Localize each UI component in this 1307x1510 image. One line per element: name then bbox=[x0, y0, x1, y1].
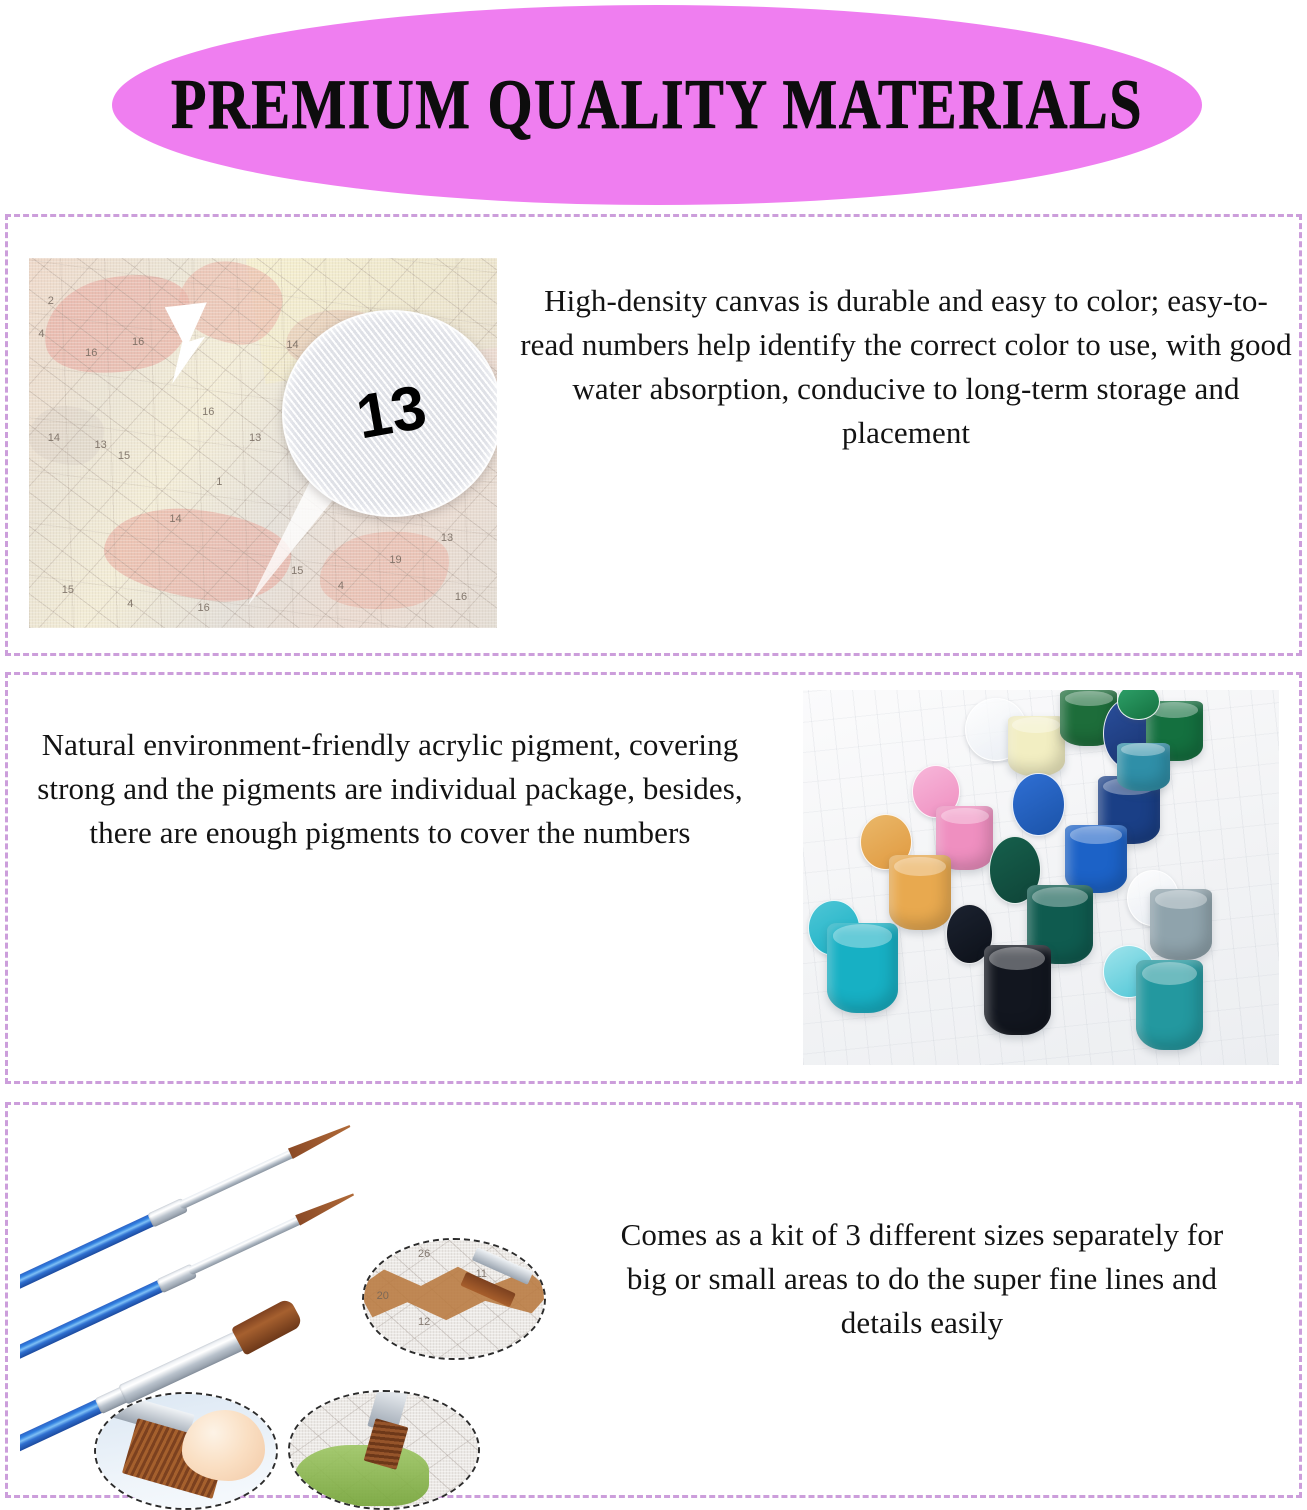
inset-bristle-closeup bbox=[94, 1392, 278, 1510]
green-paint-stroke bbox=[294, 1445, 429, 1505]
inset-number: 12 bbox=[418, 1316, 430, 1328]
inset-green-strokes bbox=[288, 1390, 480, 1510]
brush-tip bbox=[285, 1114, 356, 1165]
inset-tan-strokes: 26 11 20 12 bbox=[362, 1238, 546, 1360]
paint-pot bbox=[1150, 889, 1212, 960]
paint-pot bbox=[1136, 960, 1203, 1050]
canvas-number: 15 bbox=[291, 565, 303, 577]
canvas-number: 13 bbox=[249, 432, 261, 444]
canvas-number: 13 bbox=[95, 439, 107, 451]
canvas-number: 14 bbox=[169, 513, 181, 525]
acrylic-paint-pots-photo: 25 bbox=[803, 690, 1279, 1065]
feature-panel-canvas: 2 4 16 16 13 14 15 16 1 13 14 15 4 19 13… bbox=[5, 214, 1302, 656]
canvas-number: 14 bbox=[286, 339, 298, 351]
feature-text-pigment: Natural environment-friendly acrylic pig… bbox=[34, 723, 746, 855]
paint-pot bbox=[827, 923, 898, 1013]
paint-pot bbox=[984, 945, 1051, 1035]
paint-pot bbox=[1065, 825, 1127, 893]
magnified-number: 13 bbox=[352, 377, 431, 450]
canvas-number: 16 bbox=[202, 406, 214, 418]
canvas-number: 14 bbox=[48, 432, 60, 444]
paint-pot bbox=[1008, 716, 1065, 776]
brush-tip bbox=[292, 1182, 359, 1232]
feature-panel-pigment: Natural environment-friendly acrylic pig… bbox=[5, 672, 1302, 1084]
feature-text-canvas: High-density canvas is durable and easy … bbox=[520, 279, 1292, 455]
paint-by-numbers-canvas-photo: 2 4 16 16 13 14 15 16 1 13 14 15 4 19 13… bbox=[29, 258, 497, 628]
pot-lid bbox=[1012, 773, 1064, 837]
canvas-number: 16 bbox=[85, 347, 97, 359]
brush-tip-flat bbox=[231, 1297, 304, 1355]
canvas-number: 4 bbox=[338, 580, 344, 592]
canvas-number: 13 bbox=[441, 532, 453, 544]
paint-pot bbox=[1117, 743, 1169, 792]
brush-handle bbox=[20, 1274, 176, 1375]
canvas-number: 4 bbox=[38, 328, 44, 340]
canvas-number: 2 bbox=[48, 295, 54, 307]
page-title: PREMIUM QUALITY MATERIALS bbox=[171, 70, 1143, 141]
inset-number: 11 bbox=[476, 1268, 487, 1280]
magnifier-lens: 13 bbox=[282, 310, 497, 517]
canvas-number: 15 bbox=[118, 450, 130, 462]
header: PREMIUM QUALITY MATERIALS bbox=[0, 0, 1307, 212]
canvas-number: 16 bbox=[197, 602, 209, 614]
inset-number: 26 bbox=[418, 1248, 430, 1260]
feature-text-brushes: Comes as a kit of 3 different sizes sepa… bbox=[616, 1213, 1228, 1345]
fingertip bbox=[182, 1410, 265, 1481]
canvas-number: 16 bbox=[132, 336, 144, 348]
brush-shaft bbox=[178, 1148, 298, 1210]
canvas-number: 16 bbox=[455, 591, 467, 603]
inset-number: 20 bbox=[377, 1290, 389, 1302]
title-ellipse-banner: PREMIUM QUALITY MATERIALS bbox=[112, 5, 1202, 205]
canvas-number: 19 bbox=[389, 554, 401, 566]
canvas-number: 1 bbox=[216, 476, 222, 488]
paint-pot bbox=[889, 855, 951, 930]
canvas-number: 4 bbox=[127, 598, 133, 610]
brush-shaft bbox=[187, 1214, 305, 1275]
canvas-number: 15 bbox=[62, 584, 74, 596]
